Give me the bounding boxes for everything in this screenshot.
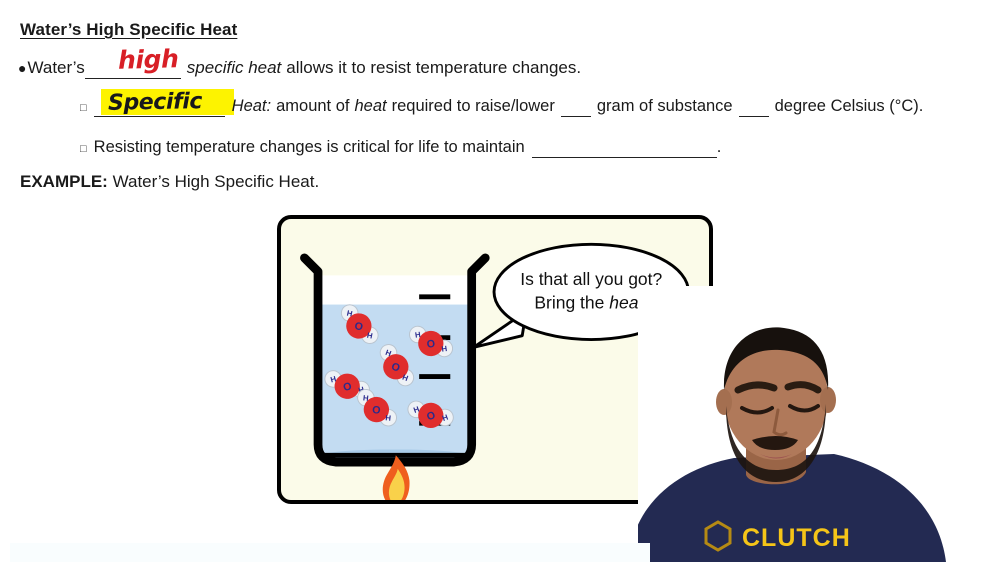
bullet2-italic-heat: heat [354,97,386,116]
example-text: Water’s High Specific Heat. [113,172,320,191]
bullet3-text: Resisting temperature changes is critica… [94,138,525,157]
bullet1-pre-text: Water’s [27,58,84,78]
bottom-band [10,543,650,562]
square-bullet-icon-2: □ [80,144,87,155]
handwritten-answer-specific: Specific [108,89,202,116]
bullet2-text-c: gram of substance [597,97,733,116]
example-label: EXAMPLE: [20,172,108,191]
speech-line-2: Bring the heat! [534,292,648,312]
ear-right [820,387,836,413]
instructor-figure: CLUTCH [638,286,1000,562]
handwritten-answer-high: high [118,44,179,75]
bullet2-text-a: amount of [276,97,349,116]
page-title: Water’s High Specific Heat [20,20,237,40]
clutch-logo-text: CLUTCH [742,524,851,552]
bullet-level1-water: ● Water’s specific heat allows it to res… [18,58,581,79]
bullet3-blank [532,138,717,158]
bullet2-term: Heat: [232,97,271,116]
bullet1-italic-term: specific heat [187,58,282,78]
example-line: EXAMPLE: Water’s High Specific Heat. [20,172,319,192]
bullet3-trailing: . [717,138,722,157]
bullet1-post-text: allows it to resist temperature changes. [286,58,581,78]
bullet2-blank-degree [739,97,769,117]
bullet-level2-resisting: □ Resisting temperature changes is criti… [80,138,721,158]
instructor-webcam: CLUTCH [638,286,1000,562]
bullet2-text-b: required to raise/lower [392,97,555,116]
bullet-dot-icon: ● [18,61,26,75]
bullet-level2-specific-heat: □ Heat: amount of heat required to raise… [80,97,923,117]
square-bullet-icon: □ [80,103,87,114]
ear-left [716,389,732,415]
bullet2-blank-gram [561,97,591,117]
bullet2-text-d: degree Celsius (°C). [775,97,924,116]
